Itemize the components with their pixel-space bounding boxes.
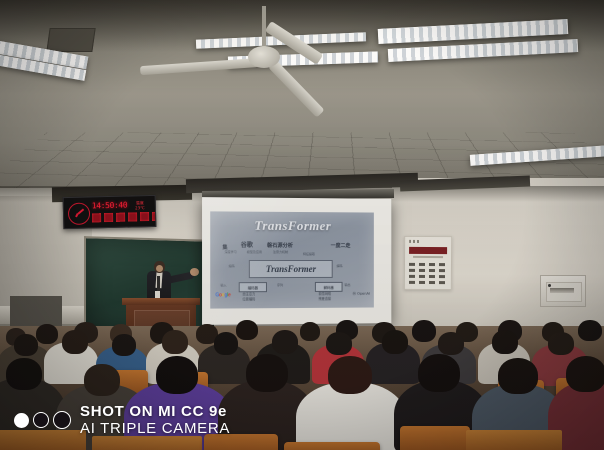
slide-keyword: 一度二走	[331, 242, 351, 249]
audience-head	[246, 354, 288, 392]
audience-head	[328, 356, 372, 394]
audience-head	[498, 358, 538, 394]
projection-screen: TransFormer 谷歌 集 磐石源分析 一度二走 深度学习 模型及应用 注…	[202, 197, 391, 325]
auditorium-chair	[284, 442, 380, 450]
audience-head	[112, 334, 136, 356]
poster-row	[409, 263, 447, 266]
audience-head	[236, 320, 258, 340]
lens-dot-ring-icon	[53, 411, 71, 429]
auditorium-desk	[92, 436, 202, 450]
slide-side-label: 序列	[277, 283, 283, 287]
audience-head	[36, 324, 58, 344]
led-temperature-label: 温度 23℃	[128, 200, 152, 211]
ceiling-fan-blade	[268, 60, 325, 118]
ceiling-fan-blade	[140, 58, 258, 75]
slide-title: TransFormer	[210, 217, 374, 234]
watermark-text: SHOT ON MI CC 9e AI TRIPLE CAMERA	[80, 403, 230, 438]
audience-head	[566, 356, 604, 392]
audience-head	[578, 320, 602, 341]
led-clock-panel: 14:50:40 温度 23℃	[63, 195, 157, 229]
led-time-readout: 14:50:40	[92, 201, 128, 211]
watermark-line-1: SHOT ON MI CC 9e	[80, 403, 230, 420]
audience-head	[84, 364, 120, 396]
led-ticker-row	[92, 211, 156, 222]
audience-head	[492, 330, 518, 354]
audience-head	[548, 332, 574, 355]
audience-head	[62, 330, 88, 354]
audience-head	[214, 332, 238, 355]
auditorium-desk	[466, 430, 562, 450]
presenter-hand	[190, 268, 199, 276]
slide-side-label: 解码	[337, 264, 343, 268]
wall-poster	[404, 236, 452, 290]
slide-keyword: 谷歌	[241, 240, 253, 249]
slide-side-label: 编码	[229, 264, 235, 268]
slide-subcaption: 深度学习	[224, 250, 236, 254]
poster-marking	[409, 240, 419, 243]
ceiling-fan-hub	[248, 46, 280, 68]
audience-head	[438, 332, 464, 355]
slide-center-box: TransFormer	[249, 260, 333, 278]
electrical-panel-indicator	[548, 284, 551, 287]
presenter-badge	[155, 291, 160, 298]
watermark-line-2: AI TRIPLE CAMERA	[80, 420, 230, 437]
slide-subcaption: 模型及应用	[247, 250, 262, 254]
lens-dot-ring-icon	[33, 412, 49, 428]
poster-header-band	[409, 247, 447, 254]
auditorium-chair	[400, 426, 470, 450]
podium-top	[122, 298, 200, 305]
analog-clock-icon	[68, 202, 91, 225]
slide-caption: 前馈网络 残差连接	[305, 292, 345, 302]
audience-head	[6, 358, 42, 390]
led-label-line2: 23℃	[128, 205, 152, 211]
camera-watermark: SHOT ON MI CC 9e AI TRIPLE CAMERA	[14, 403, 230, 438]
audience-head	[272, 330, 298, 354]
slide-caption: 自注意力 位置编码	[229, 292, 269, 302]
slide-center-box-label: TransFormer	[266, 264, 316, 274]
lens-dot-filled-icon	[14, 413, 29, 428]
poster-subtitle-line	[413, 256, 443, 258]
slide-side-label: 输入	[220, 283, 226, 287]
ceiling-vent	[46, 28, 95, 52]
lecture-hall-photo: 14:50:40 温度 23℃ TransFormer 谷歌 集 磐石源分	[0, 0, 604, 450]
slide-mini-box: 编码器	[239, 282, 267, 292]
slide-subcaption: 注意力机制	[273, 250, 288, 254]
slide-mini-box: 解码器	[315, 282, 343, 292]
presentation-slide: TransFormer 谷歌 集 磐石源分析 一度二走 深度学习 模型及应用 注…	[210, 211, 374, 308]
slide-logo-right: Ⓜ OpenAI	[352, 292, 369, 297]
watermark-lens-dots	[14, 411, 71, 429]
presenter-face	[156, 265, 163, 272]
slide-side-label: 输出	[345, 283, 351, 287]
slide-subcaption: 特征提取	[303, 252, 315, 256]
presenter-lanyard	[157, 276, 160, 292]
wall-electrical-panel	[540, 275, 586, 307]
audience-head	[418, 354, 460, 392]
audience-head	[300, 322, 320, 341]
ceiling	[0, 0, 604, 196]
audience-head	[162, 330, 188, 354]
slide-keyword: 磐石源分析	[267, 242, 293, 249]
poster-row	[409, 275, 447, 278]
clock-minute-hand	[76, 213, 79, 217]
poster-row	[409, 281, 447, 284]
wall-niche	[10, 296, 62, 328]
audience-head	[326, 332, 352, 355]
audience-head	[156, 356, 198, 394]
audience-head	[412, 320, 436, 342]
electrical-panel-slot	[550, 288, 574, 293]
audience-head	[382, 330, 408, 354]
poster-row	[409, 269, 447, 272]
audience-head	[14, 334, 38, 356]
slide-logo-left: Google	[215, 292, 230, 298]
